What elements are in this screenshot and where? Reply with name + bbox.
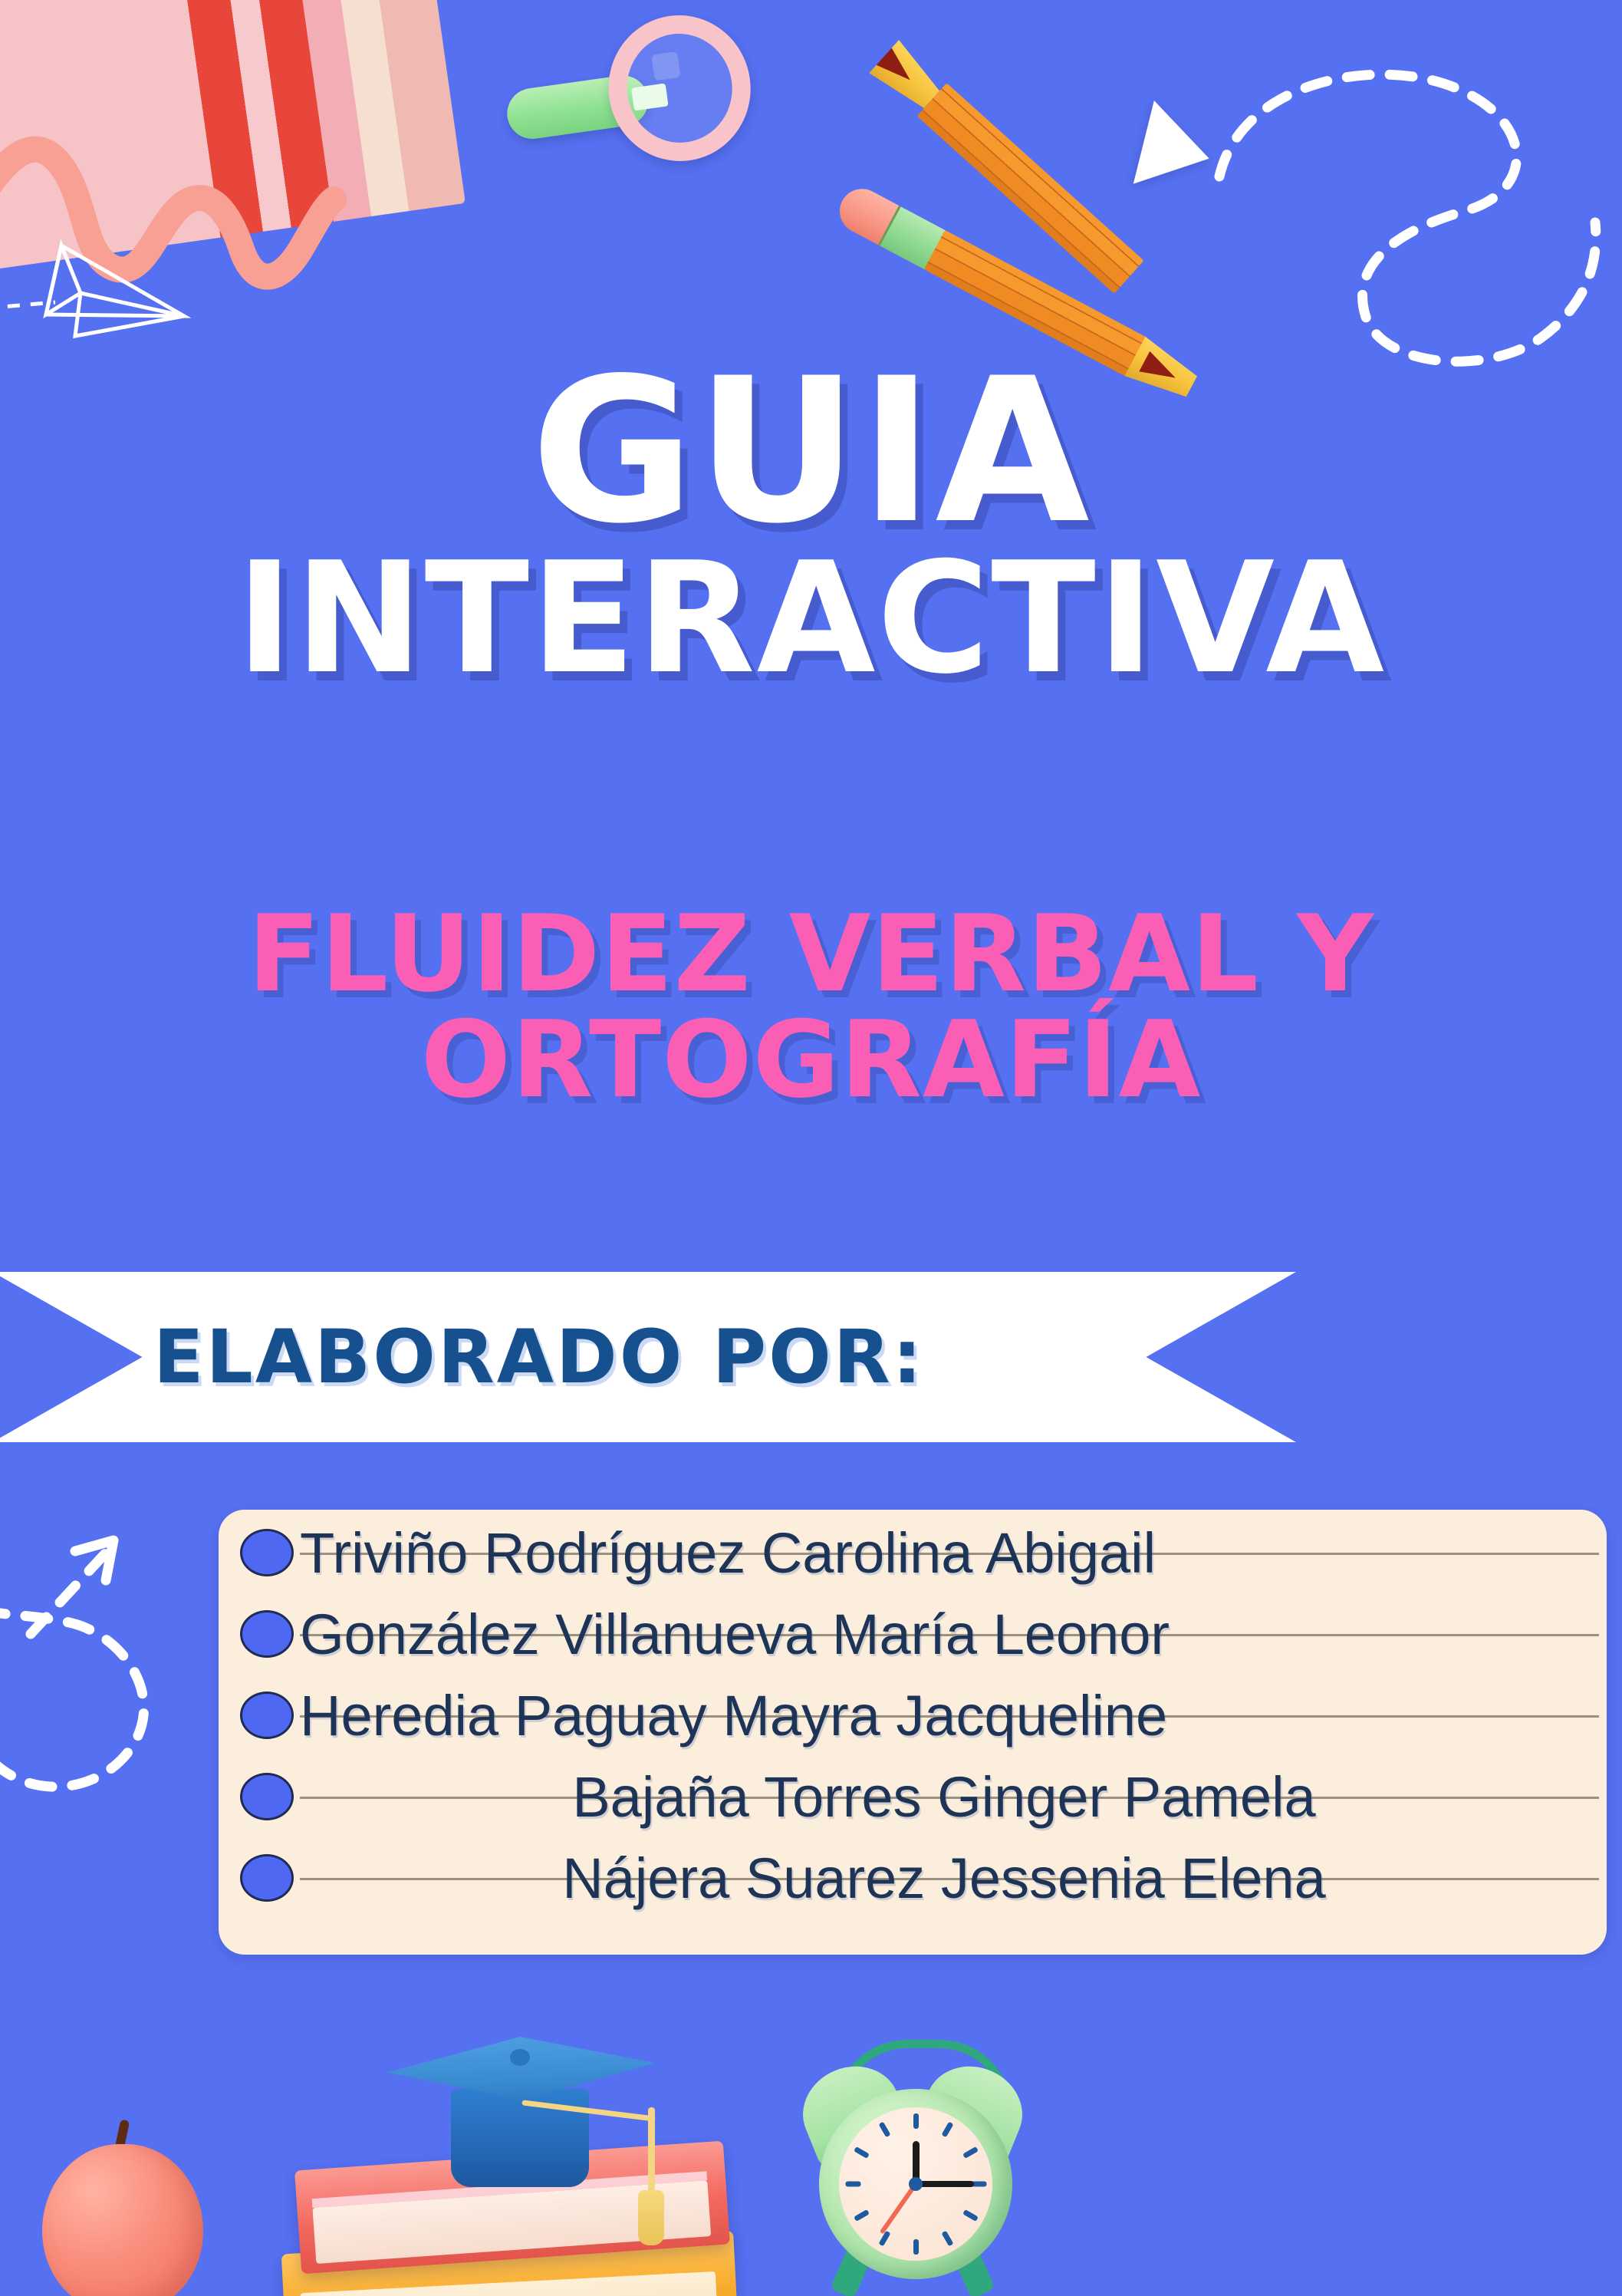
author-row: Heredia Paguay Mayra Jacqueline [219,1677,1607,1754]
author-row: González Villanueva María Leonor [219,1596,1607,1672]
page-subtitle: FLUIDEZ VERBAL Y ORTOGRAFÍA [0,901,1622,1113]
bullet-icon [240,1529,294,1576]
authors-card: Triviño Rodríguez Carolina Abigail Gonzá… [219,1510,1607,1955]
title-line-1: GUIA [0,361,1622,544]
poster-canvas: GUIA INTERACTIVA FLUIDEZ VERBAL Y ORTOGR… [0,0,1622,2296]
author-name: González Villanueva María Leonor [300,1602,1588,1667]
subtitle-line-2: ORTOGRAFÍA [0,1007,1622,1113]
author-name: Bajaña Torres Ginger Pamela [300,1764,1588,1830]
page-title: GUIA INTERACTIVA [0,361,1622,690]
elaborated-by-label: ELABORADO POR: [153,1314,924,1400]
author-row: Triviño Rodríguez Carolina Abigail [219,1514,1607,1591]
author-name: Nájera Suarez Jessenia Elena [300,1846,1588,1911]
bullet-icon [240,1692,294,1739]
subtitle-line-1: FLUIDEZ VERBAL Y [0,901,1622,1007]
elaborated-by-banner: ELABORADO POR: [0,1272,1296,1442]
author-row: Bajaña Torres Ginger Pamela [219,1758,1607,1835]
author-name: Triviño Rodríguez Carolina Abigail [300,1520,1588,1586]
author-name: Heredia Paguay Mayra Jacqueline [300,1683,1588,1748]
bullet-icon [240,1854,294,1902]
title-line-2: INTERACTIVA [0,548,1622,690]
bullet-icon [240,1610,294,1658]
author-row: Nájera Suarez Jessenia Elena [219,1840,1607,1916]
bullet-icon [240,1773,294,1820]
